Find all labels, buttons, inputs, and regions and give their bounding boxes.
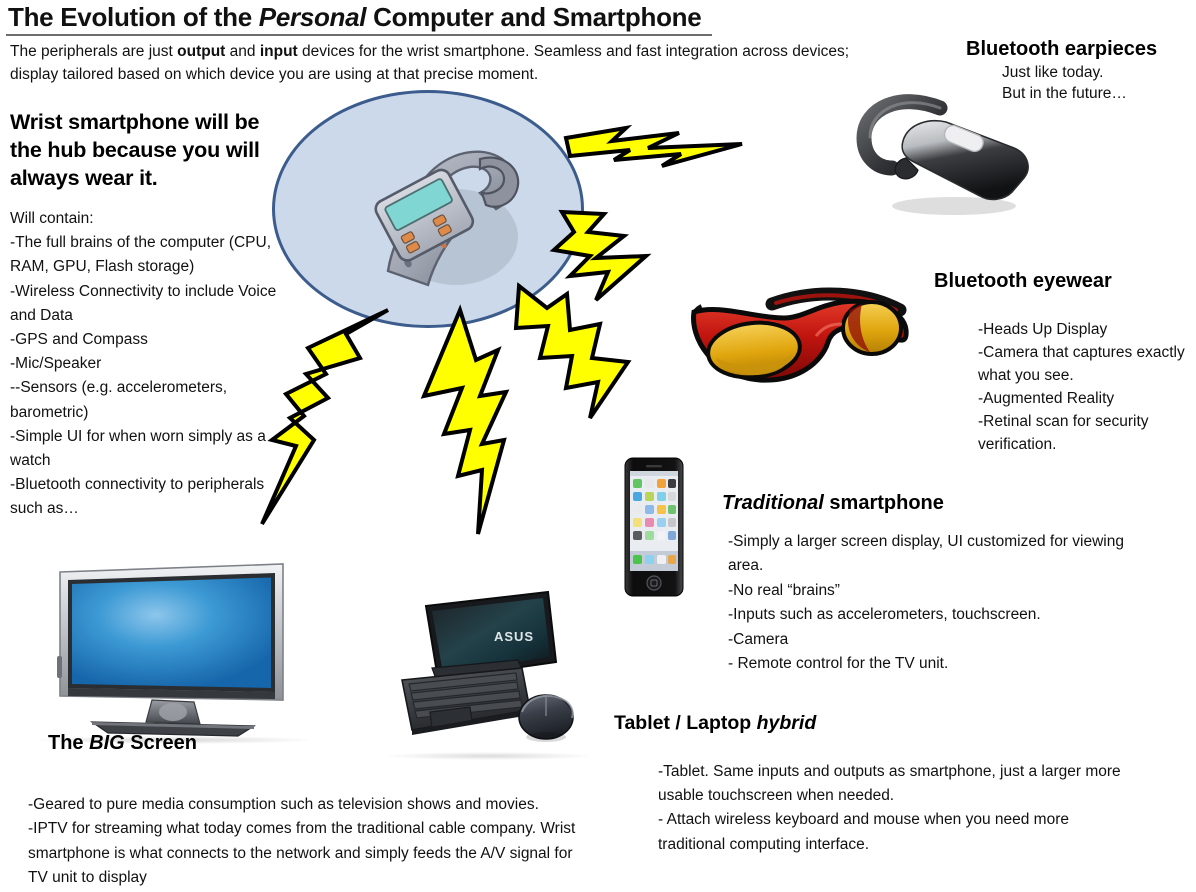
wireless-mouse <box>519 695 573 742</box>
tablet-laptop-hybrid-illustration: ASUS <box>396 584 586 759</box>
tablet-laptop-body-text: -Tablet. Same inputs and outputs as smar… <box>658 760 1128 857</box>
big-screen-body-text: -Geared to pure media consumption such a… <box>28 768 588 891</box>
big-body-italic: traditional <box>357 820 424 837</box>
tv-screen <box>72 578 271 689</box>
big-heading-pre: The <box>48 732 89 754</box>
phone-speaker-slot <box>646 465 662 467</box>
tablet-brand-logo: ASUS <box>494 629 534 644</box>
title-divider <box>6 34 712 36</box>
hub-heading: Wrist smartphone will be the hub because… <box>10 108 286 192</box>
smartphone-illustration <box>620 455 690 600</box>
bluetooth-eyewear-illustration <box>676 276 926 396</box>
earpieces-body-text: Just like today. But in the future… <box>1002 62 1196 104</box>
eyewear-body-text: -Heads Up Display -Camera that captures … <box>978 318 1196 456</box>
traditional-heading-italic: Traditional <box>722 492 824 514</box>
big-heading-italic: BIG <box>89 732 125 754</box>
title-italic-word: Personal <box>259 2 366 32</box>
tablet-laptop-heading: Tablet / Laptop hybrid <box>614 712 994 735</box>
page-title: The Evolution of the Personal Computer a… <box>8 2 738 33</box>
hub-body-text: Will contain: -The full brains of the co… <box>10 207 282 522</box>
tablet-heading-italic: hybrid <box>757 712 817 734</box>
earpieces-heading: Bluetooth earpieces <box>966 38 1196 61</box>
traditional-heading-rest: smartphone <box>824 492 944 514</box>
intro-paragraph: The peripherals are just output and inpu… <box>10 40 870 86</box>
phone-home-button <box>647 576 661 590</box>
tablet-drop-shadow <box>384 752 594 760</box>
infographic-canvas: The Evolution of the Personal Computer a… <box>0 0 1196 892</box>
eyewear-heading: Bluetooth eyewear <box>934 270 1196 293</box>
lightning-bolt-to-smartphone <box>516 286 628 418</box>
lightning-bolt-to-earpiece <box>566 128 742 166</box>
intro-seg1: The peripherals are just <box>10 43 177 60</box>
traditional-smartphone-body-text: -Simply a larger screen display, UI cust… <box>728 530 1128 676</box>
intro-bold-input: input <box>260 43 298 60</box>
wrist-smartphone-illustration <box>330 125 550 305</box>
intro-bold-output: output <box>177 43 225 60</box>
title-part1: The Evolution of the <box>8 2 259 32</box>
big-heading-post: Screen <box>125 732 197 754</box>
lightning-bolt-to-tablet <box>424 310 506 534</box>
intro-seg2: and <box>225 43 259 60</box>
tablet-heading-rest: Tablet / Laptop <box>614 712 757 734</box>
big-screen-heading: The BIG Screen <box>48 732 348 755</box>
title-part2: Computer and Smartphone <box>366 2 701 32</box>
traditional-smartphone-heading: Traditional smartphone <box>722 492 1122 515</box>
flat-screen-tv-illustration <box>48 560 298 740</box>
